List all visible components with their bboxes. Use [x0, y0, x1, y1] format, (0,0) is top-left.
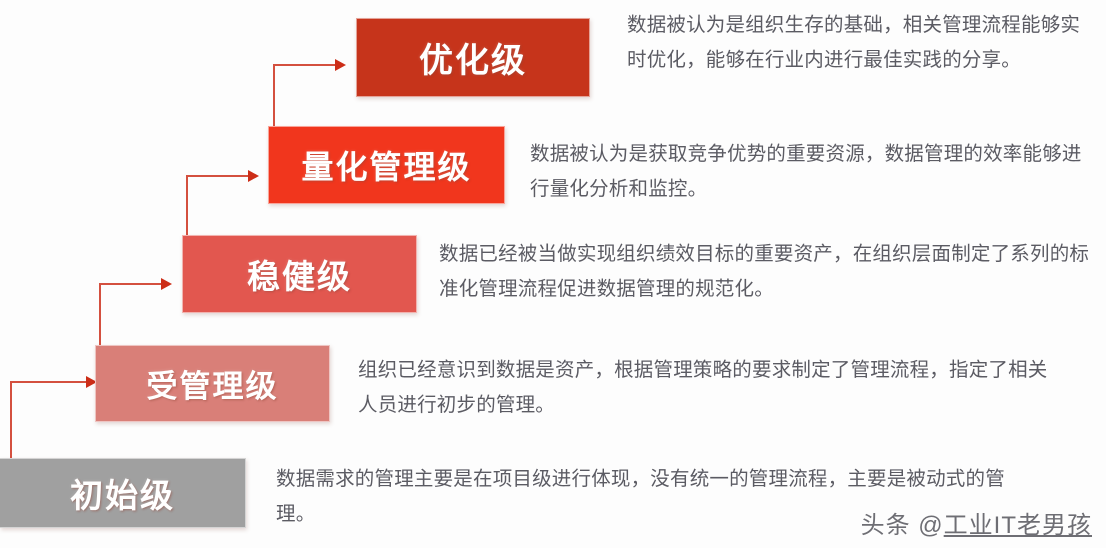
arrow-horizontal-leg [273, 64, 339, 66]
arrow-horizontal-leg [186, 175, 252, 177]
watermark-handle: 工业IT老男孩 [944, 512, 1092, 539]
level-description-optimized: 数据被认为是组织生存的基础，相关管理流程能够实时优化，能够在行业内进行最佳实践的… [627, 8, 1097, 78]
level-label-robust: 稳健级 [247, 250, 352, 298]
arrow-horizontal-leg [10, 381, 90, 383]
level-description-managed: 组织已经意识到数据是资产，根据管理策略的要求制定了管理流程，指定了相关人员进行初… [358, 353, 1058, 423]
maturity-diagram: 优化级 数据被认为是组织生存的基础，相关管理流程能够实时优化，能够在行业内进行最… [0, 0, 1106, 548]
watermark: 头条 @工业IT老男孩 [861, 505, 1092, 540]
watermark-prefix: 头条 @ [861, 512, 944, 539]
level-label-managed: 受管理级 [147, 361, 279, 406]
arrow-head-icon [248, 170, 259, 182]
level-box-optimized[interactable]: 优化级 [356, 18, 590, 97]
arrow-vertical-leg [10, 381, 12, 459]
level-description-quantified: 数据被认为是获取竞争优势的重要资源，数据管理的效率能够进行量化分析和监控。 [530, 137, 1098, 207]
level-box-robust[interactable]: 稳健级 [182, 235, 417, 313]
arrow-head-icon [335, 59, 346, 71]
arrow-initial-to-managed [10, 381, 90, 459]
level-description-robust: 数据已经被当做实现组织绩效目标的重要资产，在组织层面制定了系列的标准化管理流程促… [439, 237, 1099, 307]
level-label-optimized: 优化级 [419, 33, 527, 82]
level-box-initial[interactable]: 初始级 [0, 458, 246, 528]
level-box-quantified[interactable]: 量化管理级 [268, 126, 505, 204]
level-label-initial: 初始级 [70, 469, 175, 517]
level-label-quantified: 量化管理级 [301, 142, 471, 188]
level-box-managed[interactable]: 受管理级 [95, 345, 330, 422]
arrow-head-icon [161, 278, 172, 290]
arrow-horizontal-leg [99, 283, 165, 285]
